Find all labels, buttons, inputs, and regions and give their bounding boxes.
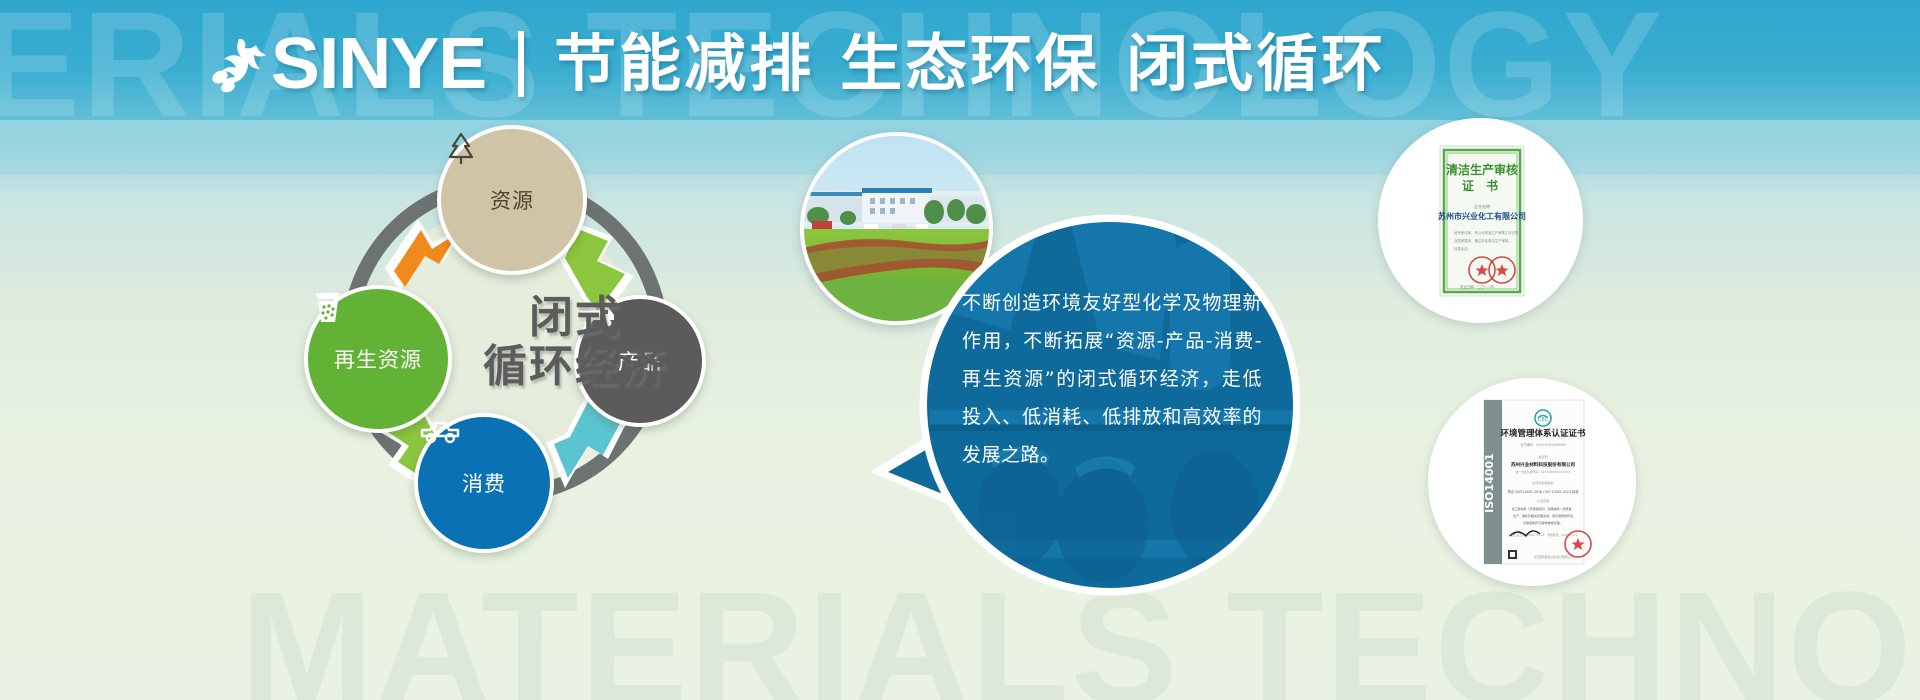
cycle-node-consume-label: 消费 xyxy=(462,474,506,495)
banner-header: SINYE 节能减排生态环保闭式循环 xyxy=(0,8,1920,120)
svg-text:的环境管理体系: 的环境管理体系 xyxy=(1532,480,1553,485)
svg-text:证书编号：00121E30066R0M: 证书编号：00121E30066R0M xyxy=(1520,442,1565,447)
svg-text:北京国环联合认证中心有限公司: 北京国环联合认证中心有限公司 xyxy=(1533,555,1572,559)
svg-text:符合 GB/T24001-2016 / ISO 14001:: 符合 GB/T24001-2016 / ISO 14001:2015 标准 xyxy=(1508,489,1580,494)
brand-logo[interactable]: SINYE xyxy=(205,28,484,100)
svg-text:统一社会信用代码：91320000XXXXXXXX: 统一社会信用代码：91320000XXXXXXXX xyxy=(1516,470,1571,474)
svg-text:清洁生产审核: 清洁生产审核 xyxy=(1446,162,1518,177)
quote-bubble: 不断创造环境友好型化学及物理新作用，不断拓展“资源-产品-消费-再生资源”的闭式… xyxy=(870,210,1300,610)
quote-bubble-text: 不断创造环境友好型化学及物理新作用，不断拓展“资源-产品-消费-再生资源”的闭式… xyxy=(962,284,1262,474)
cycle-node-resource-label: 资源 xyxy=(490,191,534,212)
svg-text:化工新材料（环保型助剂、润滑材料）的研发、: 化工新材料（环保型助剂、润滑材料）的研发、 xyxy=(1511,506,1574,511)
banner-stage: ERIALS TECHNOLOGY MATERIALS TECHNOL SINY… xyxy=(0,0,1920,700)
cycle-center-text: 闭式 循环经济 xyxy=(450,293,700,392)
svg-text:合国家要求，通过本轮清洁生产审核，: 合国家要求，通过本轮清洁生产审核， xyxy=(1454,238,1512,243)
slogan-part-2: 生态环保 xyxy=(840,27,1100,100)
svg-text:苏州兴业材料科技股份有限公司: 苏州兴业材料科技股份有限公司 xyxy=(1511,461,1576,468)
svg-text:生产、销售及相关管理活动；涉及场所的环境: 生产、销售及相关管理活动；涉及场所的环境 xyxy=(1513,513,1573,518)
svg-text:兹证明: 兹证明 xyxy=(1538,454,1547,459)
svg-text:因素控制与污染物排放管理。: 因素控制与污染物排放管理。 xyxy=(1523,520,1562,525)
cycle-node-resource[interactable]: 资源 xyxy=(437,125,587,275)
svg-text:特发此证。: 特发此证。 xyxy=(1454,246,1471,251)
svg-text:苏州市兴业化工有限公司: 苏州市兴业化工有限公司 xyxy=(1438,211,1526,221)
certificate-clean-production[interactable]: 清洁生产审核 证 书 企业名称 苏州市兴业化工有限公司 经专家评审，贵公司清洁生… xyxy=(1378,118,1583,323)
svg-text:经专家评审，贵公司清洁生产审核工作已符: 经专家评审，贵公司清洁生产审核工作已符 xyxy=(1454,230,1519,235)
leaf-splash-icon xyxy=(205,33,271,99)
svg-text:发证日期：二〇一八年: 发证日期：二〇一八年 xyxy=(1460,284,1495,289)
svg-text:CEC: CEC xyxy=(1538,417,1549,423)
svg-text:企业名称: 企业名称 xyxy=(1474,203,1490,209)
svg-text:证 书: 证 书 xyxy=(1462,178,1502,193)
closed-loop-cycle-diagram: 资源 产品 xyxy=(322,125,712,555)
slogan-part-1: 节能减排 xyxy=(554,27,814,100)
cycle-center-line-2: 循环经济 xyxy=(450,342,700,391)
slogan-part-3: 闭式循环 xyxy=(1126,27,1386,100)
svg-text:ISO14001: ISO14001 xyxy=(1483,453,1496,513)
certificate-iso14001[interactable]: ISO14001 CEC 环境管理体系认证证书 证书编号：00121E30066… xyxy=(1428,378,1636,586)
header-divider xyxy=(518,31,524,97)
cycle-center-line-1: 闭式 xyxy=(450,293,700,342)
cycle-node-recycle-label: 再生资源 xyxy=(334,350,422,371)
brand-logo-text: SINYE xyxy=(271,28,486,100)
svg-text:环境管理体系认证证书: 环境管理体系认证证书 xyxy=(1500,428,1586,439)
cycle-node-recycle[interactable]: 再生资源 xyxy=(304,285,452,433)
svg-text:认证范围: 认证范围 xyxy=(1537,498,1549,503)
cycle-node-consume[interactable]: 消费 xyxy=(414,413,554,553)
brand-slogan: 节能减排生态环保闭式循环 xyxy=(554,33,1386,95)
